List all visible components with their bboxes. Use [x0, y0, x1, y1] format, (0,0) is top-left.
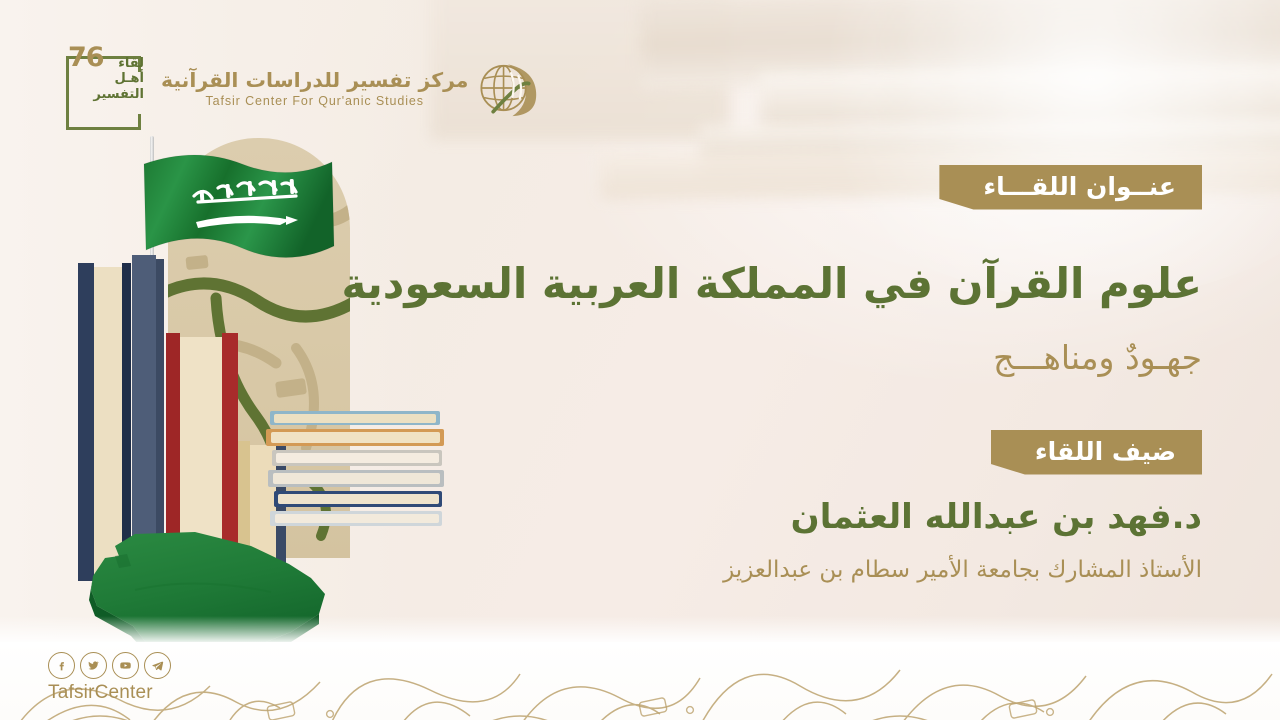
- content-column: عنــوان اللقـــاء علوم القرآن في المملكة…: [320, 0, 1240, 720]
- meeting-title: علوم القرآن في المملكة العربية السعودية: [342, 258, 1202, 309]
- social-footer: TafsirCenter: [48, 652, 208, 704]
- youtube-icon[interactable]: [112, 652, 139, 679]
- twitter-icon[interactable]: [80, 652, 107, 679]
- edition-label-line1: لقاء: [86, 56, 144, 71]
- meeting-guest-tag: ضيف اللقاء: [991, 430, 1202, 475]
- bottom-strip-fade: [0, 616, 1280, 642]
- speaker-name: د.فهد بن عبدالله العثمان: [791, 497, 1202, 538]
- event-poster: مركز تفسير للدراسات القرآنية Tafsir Cent…: [0, 0, 1280, 720]
- meeting-subtitle: جهـودٌ ومناهـــج: [993, 337, 1202, 378]
- speaker-affiliation: الأستاذ المشارك بجامعة الأمير سطام بن عب…: [723, 556, 1202, 586]
- telegram-icon[interactable]: [144, 652, 171, 679]
- edition-label-line3: التفسير: [86, 87, 144, 102]
- facebook-icon[interactable]: [48, 652, 75, 679]
- meeting-title-tag: عنــوان اللقـــاء: [939, 165, 1202, 210]
- edition-badge-label: لقاء أهـل التفسير: [86, 56, 144, 102]
- social-handle: TafsirCenter: [48, 682, 208, 704]
- social-icon-row: [48, 652, 208, 679]
- edition-label-line2: أهـل: [86, 71, 144, 86]
